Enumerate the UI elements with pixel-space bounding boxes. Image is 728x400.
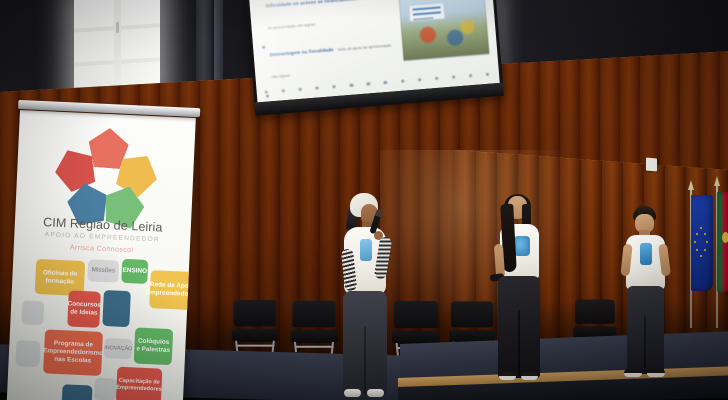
- banner-tile: [15, 340, 40, 367]
- trousers: [498, 276, 540, 378]
- cim-pentagon-logo: [49, 126, 165, 219]
- presenter-with-microphone: [333, 193, 399, 398]
- bullet-heading: Dificuldade no acesso ao financiamento: [266, 0, 357, 8]
- trousers: [343, 291, 387, 395]
- shoe: [647, 369, 665, 377]
- presenter-short-hair: [617, 206, 673, 386]
- banner-tile: Capacitação de Empreendedores: [116, 367, 163, 400]
- slide-photo-banner: [408, 2, 445, 22]
- tshirt-logo: [640, 243, 652, 265]
- portugal-coat-of-arms-icon: [722, 232, 728, 243]
- rollup-banner: CIM Região de Leiria APOIO AO EMPREENDED…: [6, 110, 195, 400]
- bullet-heading: Desvantagem na fiscalidade: [270, 47, 334, 57]
- chair-back: [451, 301, 493, 327]
- tshirt-logo: [360, 239, 372, 261]
- portugal-flag: [717, 192, 728, 292]
- shoe: [521, 372, 538, 380]
- banner-tile: [21, 300, 44, 325]
- chair-back: [394, 301, 438, 328]
- window-handle-icon[interactable]: [116, 22, 119, 33]
- banner-tile: INOVAÇÃO: [104, 338, 133, 359]
- banner-tile-grid: Oficinas de formação Missões ENSINO Rede…: [12, 256, 187, 400]
- bullet-dot-icon: [262, 46, 265, 49]
- window-sash: [114, 0, 121, 98]
- banner-tile: Programa de Empreendedorismo nas Escolas: [43, 329, 103, 376]
- shoe: [624, 369, 642, 377]
- banner-face: CIM Região de Leiria APOIO AO EMPREENDED…: [6, 110, 195, 400]
- chair-back: [234, 300, 277, 326]
- eu-flag: [691, 195, 713, 291]
- chair-back: [575, 300, 615, 324]
- chair-seat: [232, 329, 279, 342]
- light-switch[interactable]: [646, 158, 657, 172]
- banner-tile: Concursos de Ideias: [67, 290, 101, 327]
- shoe: [367, 389, 384, 397]
- chair-bar: [236, 345, 275, 347]
- slide-photo: [399, 0, 490, 62]
- shoe: [344, 389, 361, 397]
- tshirt-logo: [514, 236, 530, 256]
- banner-tile: Missões: [87, 259, 119, 282]
- auditorium-photo: Dificuldade no acesso ao financiamento t…: [0, 0, 728, 400]
- slide-bullet: Desvantagem na fiscalidade texto de apoi…: [262, 31, 397, 85]
- projection-screen: Dificuldade no acesso ao financiamento t…: [245, 0, 504, 116]
- bullet-dot-icon: [266, 95, 269, 98]
- trousers: [627, 286, 664, 374]
- chair-back: [292, 301, 335, 327]
- banner-tile: Colóquios e Palestras: [134, 327, 174, 365]
- banner-tile: [62, 384, 93, 400]
- chair-seat: [290, 330, 337, 343]
- banner-tile: [94, 378, 117, 400]
- shoe: [499, 372, 516, 380]
- chair-bar: [294, 346, 333, 348]
- slide-bullet: Dificuldade no acesso ao financiamento t…: [258, 0, 393, 36]
- presenter-long-hair: [489, 196, 549, 391]
- banner-tile: ENSINO: [121, 259, 148, 284]
- banner-tile: [102, 290, 131, 327]
